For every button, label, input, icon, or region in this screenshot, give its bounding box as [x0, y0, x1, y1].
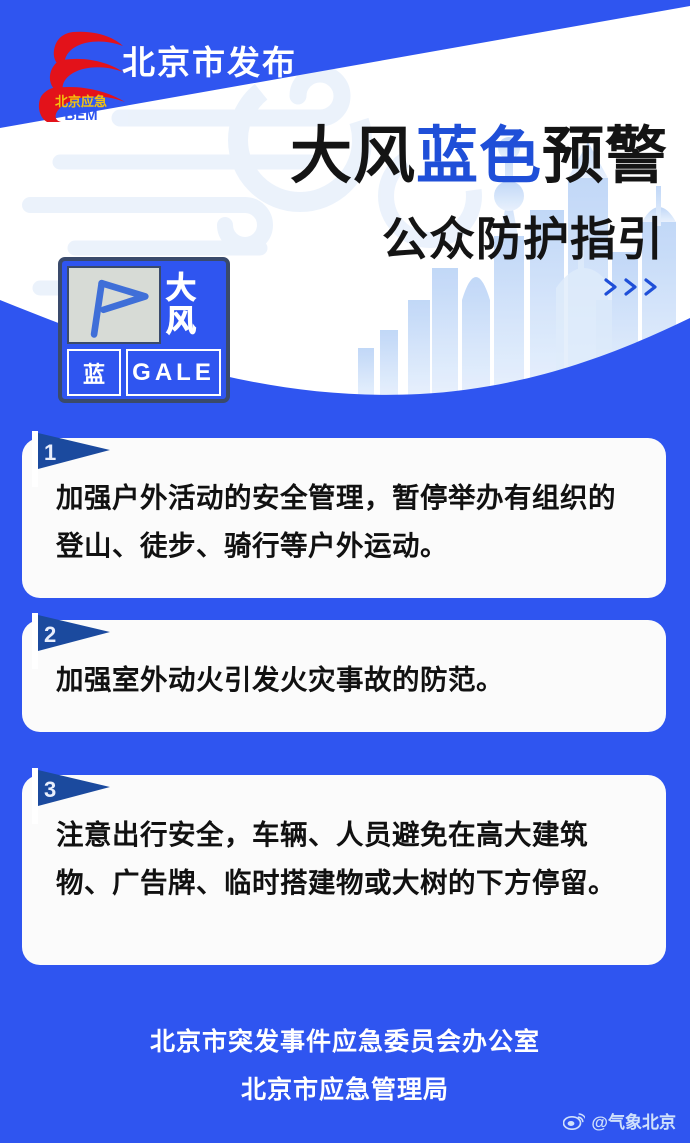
- card-text: 加强户外活动的安全管理，暂停举办有组织的登山、徒步、骑行等户外运动。: [22, 438, 666, 592]
- footer-org-secondary: 北京市应急管理局: [0, 1070, 690, 1106]
- signal-top-row: 大风: [67, 266, 221, 344]
- weibo-watermark: @气象北京: [563, 1108, 676, 1133]
- title-accent: 蓝色: [416, 122, 542, 191]
- beijing-emergency-logo: 北京应急 BEM: [27, 26, 135, 122]
- title-part1: 大风: [290, 122, 416, 191]
- signal-level-cn: 蓝: [67, 349, 121, 396]
- guideline-card[interactable]: 3 注意出行安全，车辆、人员避免在高大建筑物、广告牌、临时搭建物或大树的下方停留…: [22, 775, 666, 965]
- brand-title: 北京市发布: [122, 36, 297, 84]
- card-text: 注意出行安全，车辆、人员避免在高大建筑物、广告牌、临时搭建物或大树的下方停留。: [22, 775, 666, 929]
- card-text: 加强室外动火引发火灾事故的防范。: [22, 620, 666, 726]
- signal-bottom-row: 蓝 GALE: [67, 349, 221, 396]
- footer-org-primary: 北京市突发事件应急委员会办公室: [0, 1022, 690, 1058]
- logo-abbr-text: BEM: [64, 107, 97, 122]
- page-title: 大风蓝色预警: [0, 122, 668, 192]
- warning-poster: 北京应急 BEM 北京市发布 大风蓝色预警 公众防护指引 大风: [0, 0, 690, 1143]
- footer: 北京市突发事件应急委员会办公室 北京市应急管理局 @气象北京: [0, 990, 690, 1143]
- signal-flag-panel: [67, 266, 161, 344]
- signal-label-cn: 大风: [166, 266, 221, 344]
- weibo-handle: @气象北京: [591, 1108, 676, 1133]
- title-part2: 预警: [542, 122, 668, 191]
- wind-flag-icon: [69, 268, 159, 342]
- guideline-card[interactable]: 1 加强户外活动的安全管理，暂停举办有组织的登山、徒步、骑行等户外运动。: [22, 438, 666, 598]
- gale-warning-signal-badge: 大风 蓝 GALE: [58, 257, 230, 403]
- signal-level-en: GALE: [126, 349, 221, 396]
- guideline-card[interactable]: 2 加强室外动火引发火灾事故的防范。: [22, 620, 666, 732]
- chevron-right-icon: [602, 276, 662, 298]
- weibo-icon: [563, 1112, 585, 1130]
